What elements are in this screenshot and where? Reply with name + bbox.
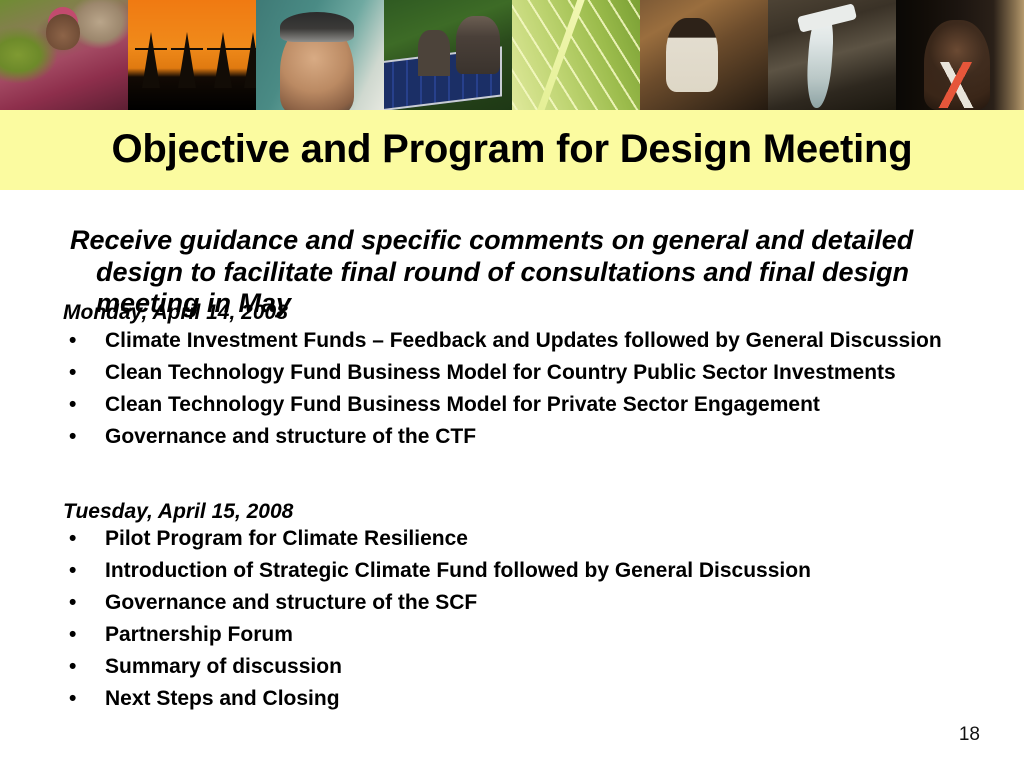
page-number: 18 <box>959 724 980 746</box>
title-band: Objective and Program for Design Meeting <box>0 110 1024 190</box>
list-item-label: Governance and structure of the SCF <box>105 591 477 614</box>
transmission-tower-icon <box>142 32 160 88</box>
list-item: • Partnership Forum <box>0 623 1000 648</box>
bullet-icon: • <box>69 425 76 450</box>
header-image-andean-man-portrait <box>0 0 128 110</box>
list-item-label: Introduction of Strategic Climate Fund f… <box>105 559 811 582</box>
list-item-label: Clean Technology Fund Business Model for… <box>105 393 820 416</box>
bullet-icon: • <box>69 687 76 712</box>
list-item-label: Next Steps and Closing <box>105 687 340 710</box>
list-item-label: Clean Technology Fund Business Model for… <box>105 361 896 384</box>
header-photo-strip <box>0 0 1024 110</box>
list-item: • Introduction of Strategic Climate Fund… <box>0 559 1000 584</box>
slide-body: Receive guidance and specific comments o… <box>0 190 1024 768</box>
list-item-label: Partnership Forum <box>105 623 293 646</box>
bullet-icon: • <box>69 361 76 386</box>
bullet-icon: • <box>69 527 76 552</box>
list-item: • Next Steps and Closing <box>0 687 1000 712</box>
header-image-power-transmission-towers-sunset <box>128 0 256 110</box>
bullet-icon: • <box>69 623 76 648</box>
list-item: • Clean Technology Fund Business Model f… <box>0 361 1000 386</box>
day-heading-monday: Monday, April 14, 2008 <box>63 301 288 324</box>
header-image-child-in-doorway <box>896 0 1024 110</box>
bullet-icon: • <box>69 393 76 418</box>
header-image-man-carrying-child-market <box>640 0 768 110</box>
list-item-label: Summary of discussion <box>105 655 342 678</box>
agenda-list-monday: • Climate Investment Funds – Feedback an… <box>0 329 1000 457</box>
list-item: • Governance and structure of the CTF <box>0 425 1000 450</box>
bullet-icon: • <box>69 655 76 680</box>
list-item-label: Climate Investment Funds – Feedback and … <box>105 329 942 352</box>
header-image-green-leaf-macro <box>512 0 640 110</box>
header-image-elderly-woman-mobile-phone <box>256 0 384 110</box>
day-heading-tuesday: Tuesday, April 15, 2008 <box>63 500 293 523</box>
list-item: • Governance and structure of the SCF <box>0 591 1000 616</box>
transmission-tower-icon <box>178 32 196 88</box>
header-image-water-spring-pipe <box>768 0 896 110</box>
bullet-icon: • <box>69 329 76 354</box>
list-item-label: Pilot Program for Climate Resilience <box>105 527 468 550</box>
page-title: Objective and Program for Design Meeting <box>111 129 912 171</box>
transmission-tower-icon <box>214 32 232 88</box>
list-item-label: Governance and structure of the CTF <box>105 425 476 448</box>
list-item: • Clean Technology Fund Business Model f… <box>0 393 1000 418</box>
header-image-solar-panel-technicians <box>384 0 512 110</box>
agenda-list-tuesday: • Pilot Program for Climate Resilience •… <box>0 527 1000 719</box>
list-item: • Climate Investment Funds – Feedback an… <box>0 329 1000 354</box>
bullet-icon: • <box>69 559 76 584</box>
bullet-icon: • <box>69 591 76 616</box>
transmission-tower-icon <box>244 32 256 88</box>
list-item: • Summary of discussion <box>0 655 1000 680</box>
list-item: • Pilot Program for Climate Resilience <box>0 527 1000 552</box>
